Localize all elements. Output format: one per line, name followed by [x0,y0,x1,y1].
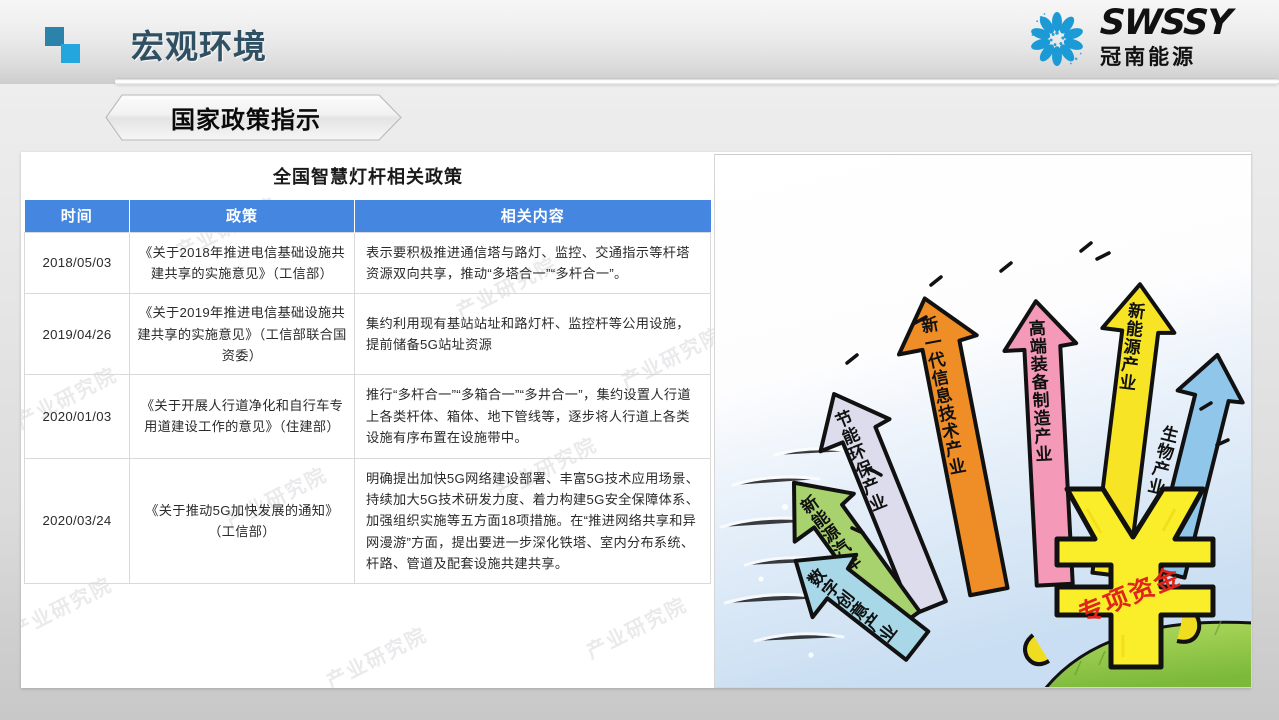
column-header-content: 相关内容 [355,200,711,232]
table-title: 全国智慧灯杆相关政策 [21,163,715,189]
header-divider [115,78,1279,85]
slide-canvas: 宏观环境 [0,0,1279,720]
column-header-time: 时间 [25,200,130,232]
cell-content: 表示要积极推进通信塔与路灯、监控、交通指示等杆塔资源双向共享，推动“多塔合一”“… [355,232,711,294]
policy-table-area: 产业研究院 产业研究院 产业研究院 产业研究院 产业研究院 产业研究院 产业研究… [21,152,715,688]
cell-content: 推行“多杆合一”“多箱合一”“多井合一”，集约设置人行道上各类杆体、箱体、地下管… [355,375,711,458]
table-header-row: 时间 政策 相关内容 [25,200,711,232]
cell-policy: 《关于2018年推进电信基础设施共建共享的实施意见》（工信部） [130,232,355,294]
two-squares-icon [45,27,85,67]
table-row: 2020/01/03 《关于开展人行道净化和自行车专用道建设工作的意见》（住建部… [25,375,711,458]
brand-logo: SWSSY 冠南能源 [1024,6,1231,72]
section-badge: 国家政策指示 [105,94,403,141]
logo-brand-subtitle: 冠南能源 [1100,44,1196,71]
cell-date: 2018/05/03 [25,232,130,294]
page-title: 宏观环境 [131,20,267,68]
logo-brand-name: SWSSY [1099,6,1232,41]
policy-table: 时间 政策 相关内容 2018/05/03 《关于2018年推进电信基础设施共建… [24,200,711,584]
water-droplet-flower-logo-icon [1024,6,1090,72]
cell-date: 2019/04/26 [25,294,130,375]
cell-policy: 《关于推动5G加快发展的通知》（工信部） [130,458,355,584]
column-header-policy: 政策 [130,200,355,232]
cell-content: 明确提出加快5G网络建设部署、丰富5G技术应用场景、持续加大5G技术研发力度、着… [355,458,711,584]
watermark-text: 产业研究院 [580,589,691,665]
cell-policy: 《关于开展人行道净化和自行车专用道建设工作的意见》（住建部） [130,375,355,458]
square-light [61,44,80,63]
cell-date: 2020/03/24 [25,458,130,584]
table-row: 2019/04/26 《关于2019年推进电信基础设施共建共享的实施意见》（工信… [25,294,711,375]
slide-header: 宏观环境 [0,0,1279,84]
table-row: 2020/03/24 《关于推动5G加快发展的通知》（工信部） 明确提出加快5G… [25,458,711,584]
watermark-text: 产业研究院 [320,619,431,688]
cell-policy: 《关于2019年推进电信基础设施共建共享的实施意见》（工信部联合国资委） [130,294,355,375]
table-row: 2018/05/03 《关于2018年推进电信基础设施共建共享的实施意见》（工信… [25,232,711,294]
cell-date: 2020/01/03 [25,375,130,458]
section-badge-label: 国家政策指示 [105,94,403,141]
industry-growth-arrows-illustration: 生物产业 新能源产业 高端装备制造产业 [714,154,1252,688]
content-card: 产业研究院 产业研究院 产业研究院 产业研究院 产业研究院 产业研究院 产业研究… [21,152,1251,688]
cell-content: 集约利用现有基站站址和路灯杆、监控杆等公用设施，提前储备5G站址资源 [355,294,711,375]
